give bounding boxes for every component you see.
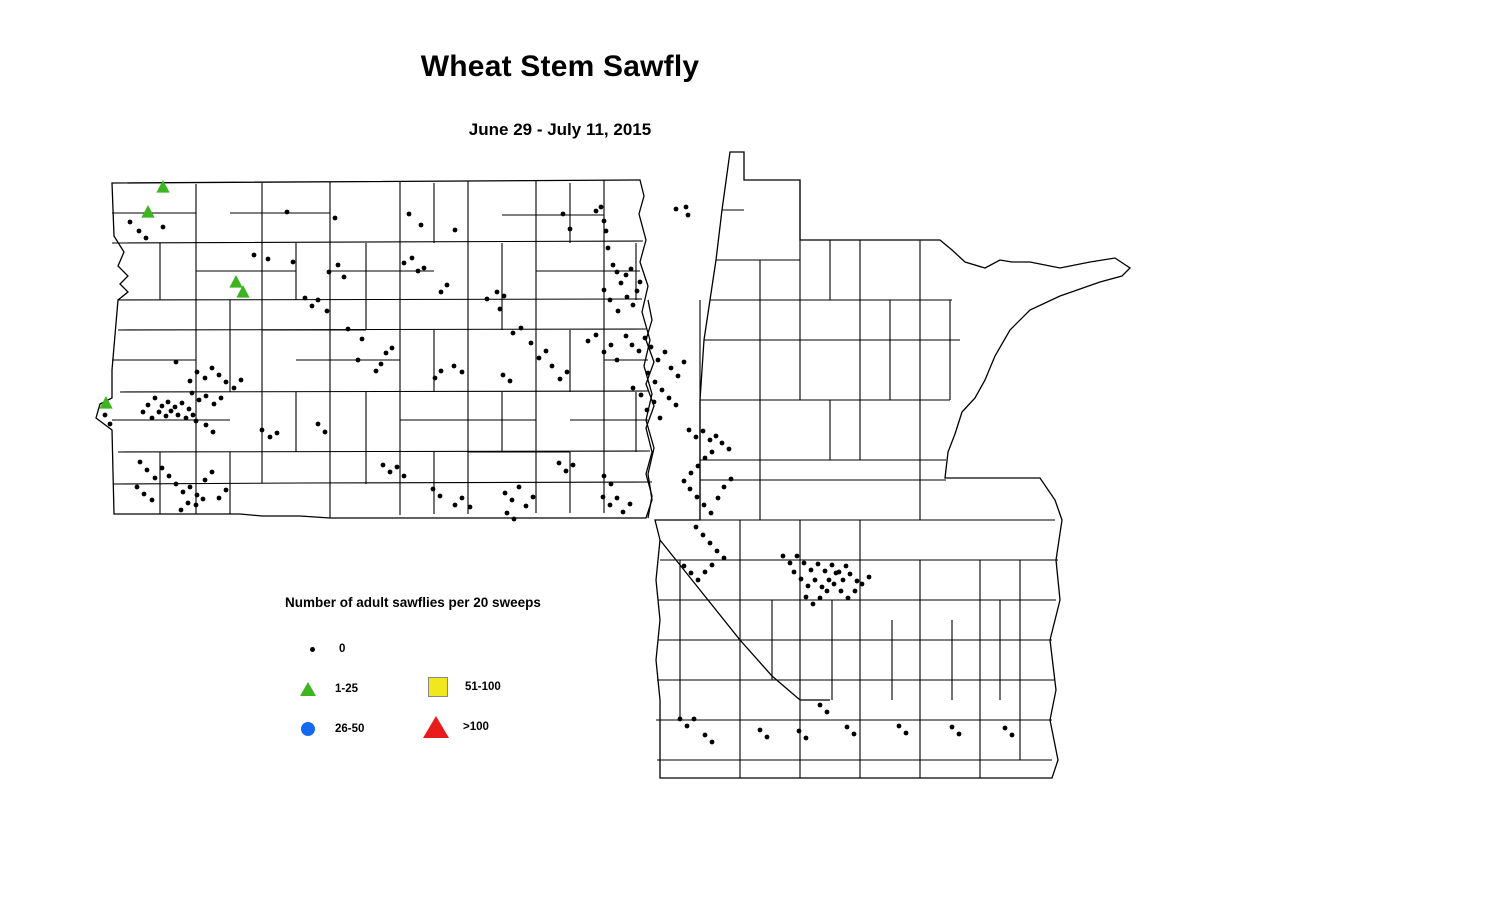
site-marker-zero [402, 261, 407, 266]
site-marker-zero [714, 434, 719, 439]
site-marker-zero [210, 366, 215, 371]
site-marker-zero [674, 207, 679, 212]
site-marker-zero [674, 403, 679, 408]
site-marker-zero [460, 496, 465, 501]
site-marker-zero [495, 290, 500, 295]
site-marker-zero [557, 461, 562, 466]
site-marker-zero [232, 386, 237, 391]
site-marker-zero [210, 470, 215, 475]
site-marker-zero [510, 498, 515, 503]
site-marker-zero [643, 336, 648, 341]
site-marker-zero [174, 360, 179, 365]
red-triangle-icon [423, 714, 449, 740]
site-marker-zero [615, 496, 620, 501]
site-marker-zero [656, 358, 661, 363]
site-marker-zero [797, 729, 802, 734]
site-marker-zero [103, 413, 108, 418]
site-marker-zero [694, 435, 699, 440]
site-marker-zero [792, 570, 797, 575]
site-marker-zero [897, 724, 902, 729]
site-marker-zero [624, 273, 629, 278]
site-marker-zero [142, 492, 147, 497]
site-marker-zero [388, 470, 393, 475]
site-marker-zero [333, 216, 338, 221]
map-page: Wheat Stem Sawfly June 29 - July 11, 201… [0, 0, 1503, 900]
site-marker-zero [519, 326, 524, 331]
legend-label-0: 0 [339, 643, 345, 655]
site-marker-zero [187, 407, 192, 412]
site-marker-zero [722, 485, 727, 490]
site-marker-zero [727, 447, 732, 452]
site-marker-zero [511, 331, 516, 336]
site-marker-zero [639, 393, 644, 398]
site-marker-zero [729, 477, 734, 482]
site-marker-zero [167, 474, 172, 479]
site-marker-zero [825, 589, 830, 594]
legend: Number of adult sawflies per 20 sweeps 0… [285, 595, 665, 746]
site-marker-zero [260, 428, 265, 433]
site-marker-zero [625, 295, 630, 300]
site-marker-zero [568, 227, 573, 232]
site-marker-zero [505, 511, 510, 516]
site-marker-zero [184, 416, 189, 421]
site-marker-zero [594, 209, 599, 214]
site-marker-zero [678, 717, 683, 722]
site-marker-zero [695, 495, 700, 500]
site-marker-zero [703, 733, 708, 738]
site-marker-zero [438, 494, 443, 499]
site-marker-zero [197, 398, 202, 403]
site-marker-zero [508, 379, 513, 384]
site-marker-zero [848, 572, 853, 577]
site-marker-zero [145, 468, 150, 473]
site-marker-zero [663, 350, 668, 355]
site-marker-zero [667, 396, 672, 401]
site-marker-zero [135, 485, 140, 490]
site-marker-zero [629, 267, 634, 272]
site-marker-zero [224, 380, 229, 385]
site-marker-zero [379, 362, 384, 367]
site-marker-zero [830, 563, 835, 568]
site-marker-zero [453, 503, 458, 508]
site-marker-zero [571, 463, 576, 468]
site-marker-zero [645, 408, 650, 413]
site-marker-zero [173, 405, 178, 410]
site-marker-zero [502, 294, 507, 299]
site-marker-zero [108, 422, 113, 427]
site-marker-zero [708, 541, 713, 546]
site-marker-zero [146, 403, 151, 408]
site-marker-zero [809, 568, 814, 573]
site-marker-zero [684, 205, 689, 210]
site-marker-zero [212, 402, 217, 407]
site-marker-zero [460, 370, 465, 375]
yellow-square-icon [425, 674, 451, 700]
site-marker-zero [224, 488, 229, 493]
site-marker-zero [710, 740, 715, 745]
site-marker-zero [268, 435, 273, 440]
site-marker-zero [715, 549, 720, 554]
site-marker-zero [669, 366, 674, 371]
site-marker-zero [565, 370, 570, 375]
site-marker-zero [823, 569, 828, 574]
site-marker-zero [630, 343, 635, 348]
site-marker-zero [839, 589, 844, 594]
site-marker-zero [853, 589, 858, 594]
site-marker-zero [195, 370, 200, 375]
site-marker-zero [164, 414, 169, 419]
site-marker-zero [827, 578, 832, 583]
site-marker-zero [144, 236, 149, 241]
site-marker-zero [346, 327, 351, 332]
site-marker-zero [160, 404, 165, 409]
site-marker-zero [701, 429, 706, 434]
site-marker-zero [150, 416, 155, 421]
site-marker-zero [160, 466, 165, 471]
site-marker-zero [696, 578, 701, 583]
legend-item-4: >100 [423, 714, 489, 740]
site-marker-zero [832, 582, 837, 587]
site-marker-zero [602, 350, 607, 355]
site-marker-zero [716, 496, 721, 501]
site-marker-zero [825, 710, 830, 715]
site-marker-zero [852, 732, 857, 737]
legend-item-0: 0 [299, 636, 345, 662]
site-marker-zero [788, 561, 793, 566]
site-marker-zero [291, 260, 296, 265]
site-marker-zero [360, 337, 365, 342]
legend-item-1: 1-25 [295, 676, 358, 702]
site-marker-zero [816, 562, 821, 567]
site-marker-zero [179, 508, 184, 513]
site-marker-zero [191, 413, 196, 418]
site-marker-zero [682, 564, 687, 569]
site-marker-zero [846, 596, 851, 601]
site-marker-zero [203, 376, 208, 381]
site-marker-zero [844, 564, 849, 569]
site-marker-zero [316, 422, 321, 427]
site-marker-zero [703, 570, 708, 575]
site-marker-zero [166, 400, 171, 405]
site-marker-zero [188, 379, 193, 384]
site-marker-zero [950, 725, 955, 730]
site-marker-zero [252, 253, 257, 258]
site-marker-zero [804, 736, 809, 741]
site-marker-zero [419, 223, 424, 228]
site-marker-zero [161, 225, 166, 230]
site-marker-zero [841, 578, 846, 583]
site-marker-zero [550, 364, 555, 369]
site-marker-zero [631, 386, 636, 391]
site-marker-zero [860, 582, 865, 587]
site-marker-zero [537, 356, 542, 361]
site-marker-zero [181, 490, 186, 495]
site-marker-zero [445, 283, 450, 288]
site-marker-zero [696, 464, 701, 469]
site-marker-zero [710, 450, 715, 455]
site-marker-zero [431, 487, 436, 492]
site-marker-zero [722, 556, 727, 561]
site-marker-zero [646, 371, 651, 376]
site-marker-zero [395, 465, 400, 470]
site-marker-zero [323, 430, 328, 435]
blue-circle-icon [295, 716, 321, 742]
site-marker-zero [813, 578, 818, 583]
site-marker-zero [820, 585, 825, 590]
site-marker-zero [336, 263, 341, 268]
legend-items: 0 1-25 26-50 51-100 >100 [285, 636, 665, 746]
site-marker-zero [453, 228, 458, 233]
site-marker-zero [342, 275, 347, 280]
site-marker-zero [1003, 726, 1008, 731]
site-marker-zero [687, 428, 692, 433]
site-marker-zero [811, 602, 816, 607]
site-marker-zero [594, 333, 599, 338]
site-marker-zero [802, 561, 807, 566]
site-marker-zero [310, 304, 315, 309]
site-marker-zero [204, 423, 209, 428]
site-marker-zero [689, 571, 694, 576]
site-marker-zero [128, 220, 133, 225]
site-marker-zero [439, 290, 444, 295]
site-marker-zero [186, 501, 191, 506]
site-marker-zero [390, 346, 395, 351]
site-marker-zero [485, 297, 490, 302]
site-marker-zero [765, 735, 770, 740]
site-marker-zero [608, 298, 613, 303]
site-marker-zero [498, 307, 503, 312]
site-marker-zero [804, 595, 809, 600]
site-marker-zero [407, 212, 412, 217]
site-marker-zero [608, 503, 613, 508]
site-marker-zero [558, 377, 563, 382]
site-marker-zero [703, 456, 708, 461]
site-marker-zero [201, 497, 206, 502]
site-marker-zero [561, 212, 566, 217]
site-marker-zero [285, 210, 290, 215]
site-marker-zero [356, 358, 361, 363]
site-marker-zero [564, 469, 569, 474]
site-marker-zero [628, 502, 633, 507]
site-marker-zero [601, 495, 606, 500]
site-marker-zero [649, 345, 654, 350]
site-marker-zero [692, 717, 697, 722]
site-marker-zero [169, 409, 174, 414]
site-marker-zero [624, 334, 629, 339]
map-container [0, 0, 1503, 900]
site-marker-zero [660, 388, 665, 393]
site-marker-zero [452, 364, 457, 369]
site-marker-zero [621, 510, 626, 515]
county-map-svg [0, 0, 1503, 900]
small-black-dot-icon [299, 636, 325, 662]
site-marker-zero [638, 280, 643, 285]
site-marker-zero [599, 205, 604, 210]
site-marker-zero [635, 289, 640, 294]
legend-label-4: >100 [463, 721, 489, 733]
site-marker-zero [615, 358, 620, 363]
site-marker-zero [410, 256, 415, 261]
site-marker-zero [190, 391, 195, 396]
site-marker-zero [709, 511, 714, 516]
site-marker-zero [195, 493, 200, 498]
site-marker-zero [503, 491, 508, 496]
site-marker-zero [1010, 733, 1015, 738]
site-marker-zero [153, 476, 158, 481]
site-marker-zero [422, 266, 427, 271]
site-marker-zero [219, 396, 224, 401]
site-marker-zero [702, 503, 707, 508]
site-marker-zero [676, 374, 681, 379]
legend-label-3: 51-100 [465, 681, 501, 693]
site-marker-zero [153, 396, 158, 401]
site-marker-zero [188, 485, 193, 490]
site-marker-zero [604, 229, 609, 234]
site-marker-zero [141, 410, 146, 415]
site-marker-zero [845, 725, 850, 730]
site-marker-zero [512, 517, 517, 522]
site-marker-zero [631, 303, 636, 308]
site-marker-zero [602, 474, 607, 479]
site-marker-zero [682, 479, 687, 484]
site-marker-zero [137, 229, 142, 234]
legend-item-2: 26-50 [295, 716, 364, 742]
site-marker-zero [544, 349, 549, 354]
site-marker-zero [602, 288, 607, 293]
site-marker-zero [402, 474, 407, 479]
site-marker-zero [701, 533, 706, 538]
site-marker-zero [327, 270, 332, 275]
site-marker-zero [439, 369, 444, 374]
site-marker-zero [682, 360, 687, 365]
site-marker-zero [468, 505, 473, 510]
site-marker-zero [529, 341, 534, 346]
site-marker-zero [904, 731, 909, 736]
site-marker-zero [266, 257, 271, 262]
site-marker-zero [204, 394, 209, 399]
site-marker-zero [686, 213, 691, 218]
site-marker-zero [720, 441, 725, 446]
site-marker-zero [818, 703, 823, 708]
site-marker-zero [157, 410, 162, 415]
site-marker-zero [855, 579, 860, 584]
site-marker-zero [174, 482, 179, 487]
site-marker-zero [616, 309, 621, 314]
site-marker-zero [619, 281, 624, 286]
site-marker-zero [416, 269, 421, 274]
site-marker-zero [211, 430, 216, 435]
site-marker-zero [685, 724, 690, 729]
site-marker-zero [275, 431, 280, 436]
site-marker-zero [799, 577, 804, 582]
site-marker-zero [325, 309, 330, 314]
site-marker-zero [795, 554, 800, 559]
site-marker-zero [658, 416, 663, 421]
site-marker-zero [138, 460, 143, 465]
site-marker-zero [217, 496, 222, 501]
site-marker-zero [217, 373, 222, 378]
site-marker-zero [586, 339, 591, 344]
site-marker-zero [517, 485, 522, 490]
site-marker-zero [818, 596, 823, 601]
site-marker-zero [501, 373, 506, 378]
site-marker-zero [611, 263, 616, 268]
site-marker-zero [194, 419, 199, 424]
legend-item-3: 51-100 [425, 674, 501, 700]
site-marker-zero [606, 246, 611, 251]
site-marker-zero [609, 343, 614, 348]
site-marker-zero [531, 495, 536, 500]
site-marker-zero [652, 400, 657, 405]
site-marker-zero [609, 482, 614, 487]
site-marker-zero [150, 498, 155, 503]
site-marker-zero [374, 369, 379, 374]
site-marker-zero [957, 732, 962, 737]
site-marker-zero [637, 349, 642, 354]
site-marker-zero [834, 571, 839, 576]
site-marker-zero [194, 503, 199, 508]
site-marker-zero [180, 401, 185, 406]
site-marker-zero [316, 298, 321, 303]
site-marker-zero [694, 525, 699, 530]
site-marker-zero [615, 270, 620, 275]
site-marker-zero [689, 471, 694, 476]
site-marker-zero [781, 554, 786, 559]
site-marker-zero [710, 563, 715, 568]
legend-label-2: 26-50 [335, 723, 364, 735]
site-marker-zero [688, 487, 693, 492]
site-marker-zero [203, 478, 208, 483]
legend-label-1: 1-25 [335, 683, 358, 695]
green-triangle-icon [295, 676, 321, 702]
site-marker-zero [758, 728, 763, 733]
site-marker-zero [867, 575, 872, 580]
site-marker-zero [433, 376, 438, 381]
site-marker-zero [602, 219, 607, 224]
site-marker-zero [176, 413, 181, 418]
site-marker-zero [239, 378, 244, 383]
site-marker-zero [384, 351, 389, 356]
legend-title: Number of adult sawflies per 20 sweeps [285, 595, 665, 610]
site-marker-zero [806, 584, 811, 589]
site-marker-zero [303, 296, 308, 301]
site-marker-zero [653, 380, 658, 385]
site-marker-zero [381, 463, 386, 468]
site-marker-zero [708, 438, 713, 443]
site-marker-zero [524, 504, 529, 509]
